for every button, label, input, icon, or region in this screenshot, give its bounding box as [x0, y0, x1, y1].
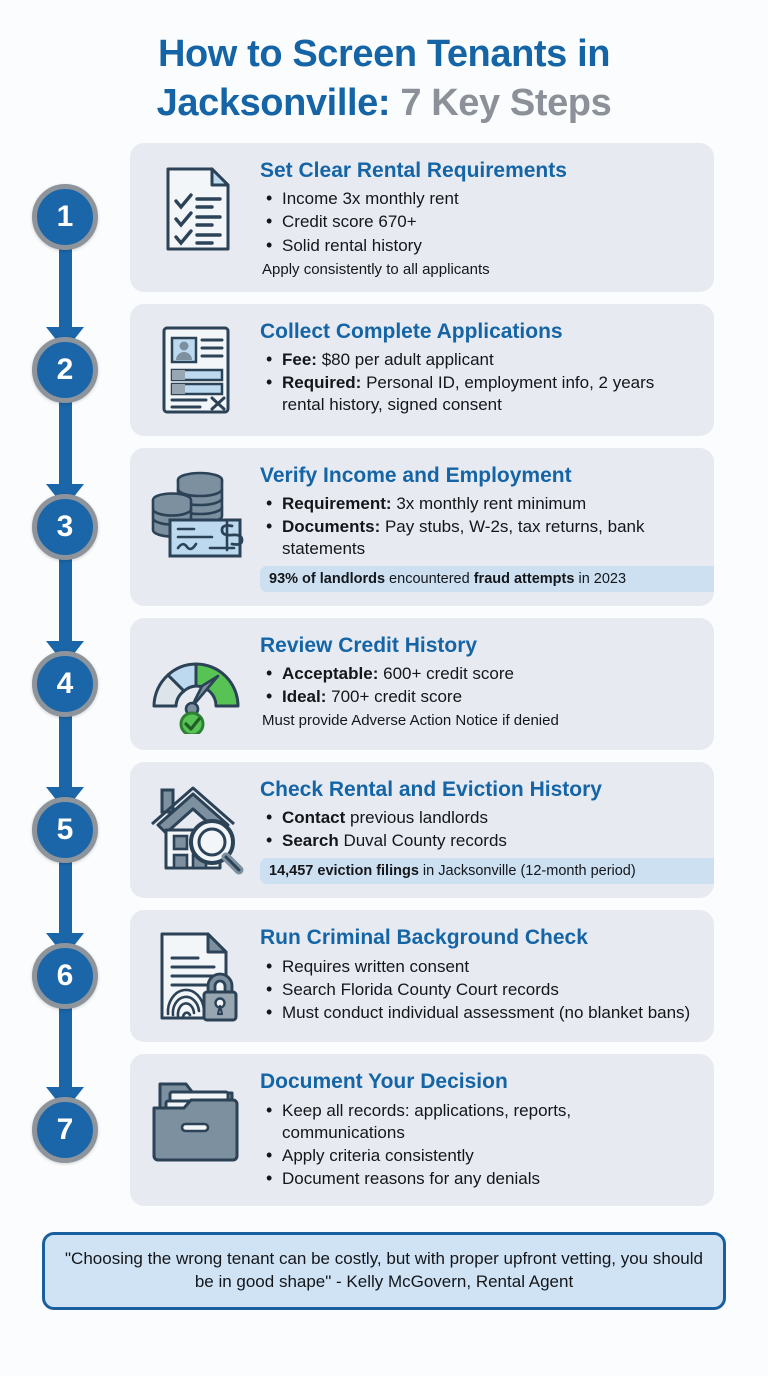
- bullet-text: Must conduct individual assessment (no b…: [282, 1003, 690, 1022]
- step-6: 6 Run Criminal Background CheckRequires …: [0, 910, 714, 1042]
- bullet-text: 600+ credit score: [383, 664, 514, 683]
- bullet-item: Search Florida County Court records: [260, 979, 698, 1001]
- step-number-badge: 6: [32, 943, 98, 1009]
- quote-box: "Choosing the wrong tenant can be costly…: [42, 1232, 726, 1310]
- bullet-lead: Contact: [282, 808, 345, 827]
- connector-shaft: [59, 555, 72, 641]
- step-number-badge: 7: [32, 1097, 98, 1163]
- step-bullet-list: Requires written consentSearch Florida C…: [260, 956, 698, 1024]
- title-text-subtitle: 7 Key Steps: [400, 82, 611, 124]
- bullet-lead: Required:: [282, 373, 361, 392]
- money-check-icon: [144, 462, 248, 566]
- step-card: Document Your DecisionKeep all records: …: [130, 1054, 714, 1206]
- step-bullet-list: Contact previous landlordsSearch Duval C…: [260, 807, 698, 852]
- steps-list: 1 Set Clear Rental RequirementsIncome 3x…: [0, 137, 768, 1206]
- step-content: Collect Complete ApplicationsFee: $80 pe…: [260, 318, 698, 418]
- bullet-item: Income 3x monthly rent: [260, 188, 698, 210]
- stat-text-tail: in 2023: [574, 571, 626, 587]
- step-card: Check Rental and Eviction HistoryContact…: [130, 762, 714, 898]
- step-connector-arrow: [46, 555, 84, 665]
- step-number-badge: 5: [32, 797, 98, 863]
- step-title: Document Your Decision: [260, 1070, 698, 1094]
- step-stat-highlight: 14,457 eviction filings in Jacksonville …: [260, 858, 714, 884]
- bullet-text: previous landlords: [350, 808, 488, 827]
- step-card: Collect Complete ApplicationsFee: $80 pe…: [130, 304, 714, 436]
- step-title: Run Criminal Background Check: [260, 926, 698, 950]
- step-note: Apply consistently to all applicants: [260, 261, 698, 278]
- checklist-document-icon: [144, 157, 248, 261]
- bullet-item: Requires written consent: [260, 956, 698, 978]
- bullet-item: Documents: Pay stubs, W-2s, tax returns,…: [260, 516, 698, 560]
- title-line-1: How to Screen Tenants in: [40, 30, 728, 79]
- step-card: Run Criminal Background CheckRequires wr…: [130, 910, 714, 1042]
- bullet-text: Requires written consent: [282, 957, 469, 976]
- bullet-lead: Search: [282, 831, 339, 850]
- bullet-lead: Documents:: [282, 517, 380, 536]
- stat-bold-primary: 93% of landlords: [269, 571, 385, 587]
- bullet-text: Credit score 670+: [282, 212, 417, 231]
- page-title: How to Screen Tenants in Jacksonville: 7…: [0, 0, 768, 137]
- step-number-badge: 3: [32, 494, 98, 560]
- step-content: Verify Income and EmploymentRequirement:…: [260, 462, 698, 592]
- bullet-lead: Acceptable:: [282, 664, 378, 683]
- application-form-icon: [144, 318, 248, 422]
- bullet-item: Document reasons for any denials: [260, 1168, 698, 1190]
- step-card: Review Credit HistoryAcceptable: 600+ cr…: [130, 618, 714, 750]
- step-bullet-list: Income 3x monthly rentCredit score 670+S…: [260, 188, 698, 256]
- title-text-location: Jacksonville:: [157, 82, 391, 124]
- step-bullet-list: Requirement: 3x monthly rent minimumDocu…: [260, 493, 698, 560]
- step-connector-arrow: [46, 1004, 84, 1111]
- file-folder-icon: [144, 1068, 248, 1172]
- bullet-text: Apply criteria consistently: [282, 1146, 474, 1165]
- title-line-2: Jacksonville: 7 Key Steps: [40, 79, 728, 128]
- credit-gauge-icon: [144, 632, 248, 736]
- bullet-item: Contact previous landlords: [260, 807, 698, 829]
- bullet-lead: Ideal:: [282, 687, 326, 706]
- fingerprint-lock-document-icon: [144, 924, 248, 1028]
- step-1: 1 Set Clear Rental RequirementsIncome 3x…: [0, 143, 714, 291]
- bullet-item: Required: Personal ID, employment info, …: [260, 372, 698, 416]
- bullet-item: Ideal: 700+ credit score: [260, 686, 698, 708]
- step-title: Set Clear Rental Requirements: [260, 159, 698, 183]
- connector-shaft: [59, 398, 72, 484]
- step-rail: 1: [0, 143, 130, 291]
- step-title: Collect Complete Applications: [260, 320, 698, 344]
- step-content: Document Your DecisionKeep all records: …: [260, 1068, 698, 1192]
- bullet-text: Income 3x monthly rent: [282, 189, 459, 208]
- bullet-text: 700+ credit score: [331, 687, 462, 706]
- step-title: Check Rental and Eviction History: [260, 778, 698, 802]
- stat-text-middle: in Jacksonville (12-month period): [419, 863, 636, 879]
- bullet-lead: Requirement:: [282, 494, 392, 513]
- bullet-item: Acceptable: 600+ credit score: [260, 663, 698, 685]
- stat-text-middle: encountered: [385, 571, 474, 587]
- step-connector-arrow: [46, 398, 84, 508]
- bullet-item: Apply criteria consistently: [260, 1145, 698, 1167]
- bullet-text: Keep all records: applications, reports,…: [282, 1101, 571, 1142]
- quote-section: "Choosing the wrong tenant can be costly…: [0, 1218, 768, 1310]
- step-connector-arrow: [46, 245, 84, 350]
- step-stat-highlight: 93% of landlords encountered fraud attem…: [260, 566, 714, 592]
- step-content: Check Rental and Eviction HistoryContact…: [260, 776, 698, 884]
- bullet-lead: Fee:: [282, 350, 317, 369]
- step-7: 7 Document Your DecisionKeep all records…: [0, 1054, 714, 1206]
- bullet-text: Search Florida County Court records: [282, 980, 559, 999]
- step-title: Review Credit History: [260, 634, 698, 658]
- title-text-primary: How to Screen Tenants in: [158, 33, 610, 75]
- connector-shaft: [59, 1004, 72, 1087]
- bullet-item: Requirement: 3x monthly rent minimum: [260, 493, 698, 515]
- bullet-item: Credit score 670+: [260, 211, 698, 233]
- step-note: Must provide Adverse Action Notice if de…: [260, 712, 698, 729]
- step-bullet-list: Acceptable: 600+ credit scoreIdeal: 700+…: [260, 663, 698, 708]
- bullet-text: Document reasons for any denials: [282, 1169, 540, 1188]
- step-number-badge: 2: [32, 337, 98, 403]
- step-5: 5 Check Rental and Eviction HistoryConta…: [0, 762, 714, 898]
- bullet-item: Keep all records: applications, reports,…: [260, 1100, 698, 1144]
- step-3: 3 Verify Income and EmploymentRequiremen…: [0, 448, 714, 606]
- connector-shaft: [59, 245, 72, 326]
- step-card: Verify Income and EmploymentRequirement:…: [130, 448, 714, 606]
- step-title: Verify Income and Employment: [260, 464, 698, 488]
- step-number-badge: 1: [32, 184, 98, 250]
- bullet-text: Solid rental history: [282, 236, 422, 255]
- bullet-text: $80 per adult applicant: [322, 350, 494, 369]
- stat-bold-primary: 14,457 eviction filings: [269, 863, 419, 879]
- connector-shaft: [59, 712, 72, 787]
- bullet-text: 3x monthly rent minimum: [396, 494, 586, 513]
- bullet-item: Search Duval County records: [260, 830, 698, 852]
- house-magnifier-icon: [144, 776, 248, 880]
- step-bullet-list: Keep all records: applications, reports,…: [260, 1100, 698, 1190]
- bullet-text: Duval County records: [343, 831, 506, 850]
- step-card: Set Clear Rental RequirementsIncome 3x m…: [130, 143, 714, 291]
- bullet-item: Fee: $80 per adult applicant: [260, 349, 698, 371]
- connector-shaft: [59, 858, 72, 933]
- stat-bold-secondary: fraud attempts: [474, 571, 575, 587]
- step-number-badge: 4: [32, 651, 98, 717]
- step-bullet-list: Fee: $80 per adult applicantRequired: Pe…: [260, 349, 698, 416]
- step-content: Review Credit HistoryAcceptable: 600+ cr…: [260, 632, 698, 729]
- step-content: Run Criminal Background CheckRequires wr…: [260, 924, 698, 1025]
- step-content: Set Clear Rental RequirementsIncome 3x m…: [260, 157, 698, 277]
- step-4: 4 Review Credit HistoryAcceptable: 600+ …: [0, 618, 714, 750]
- bullet-item: Must conduct individual assessment (no b…: [260, 1002, 698, 1024]
- step-2: 2 Collect Complete ApplicationsFee: $80 …: [0, 304, 714, 436]
- bullet-item: Solid rental history: [260, 235, 698, 257]
